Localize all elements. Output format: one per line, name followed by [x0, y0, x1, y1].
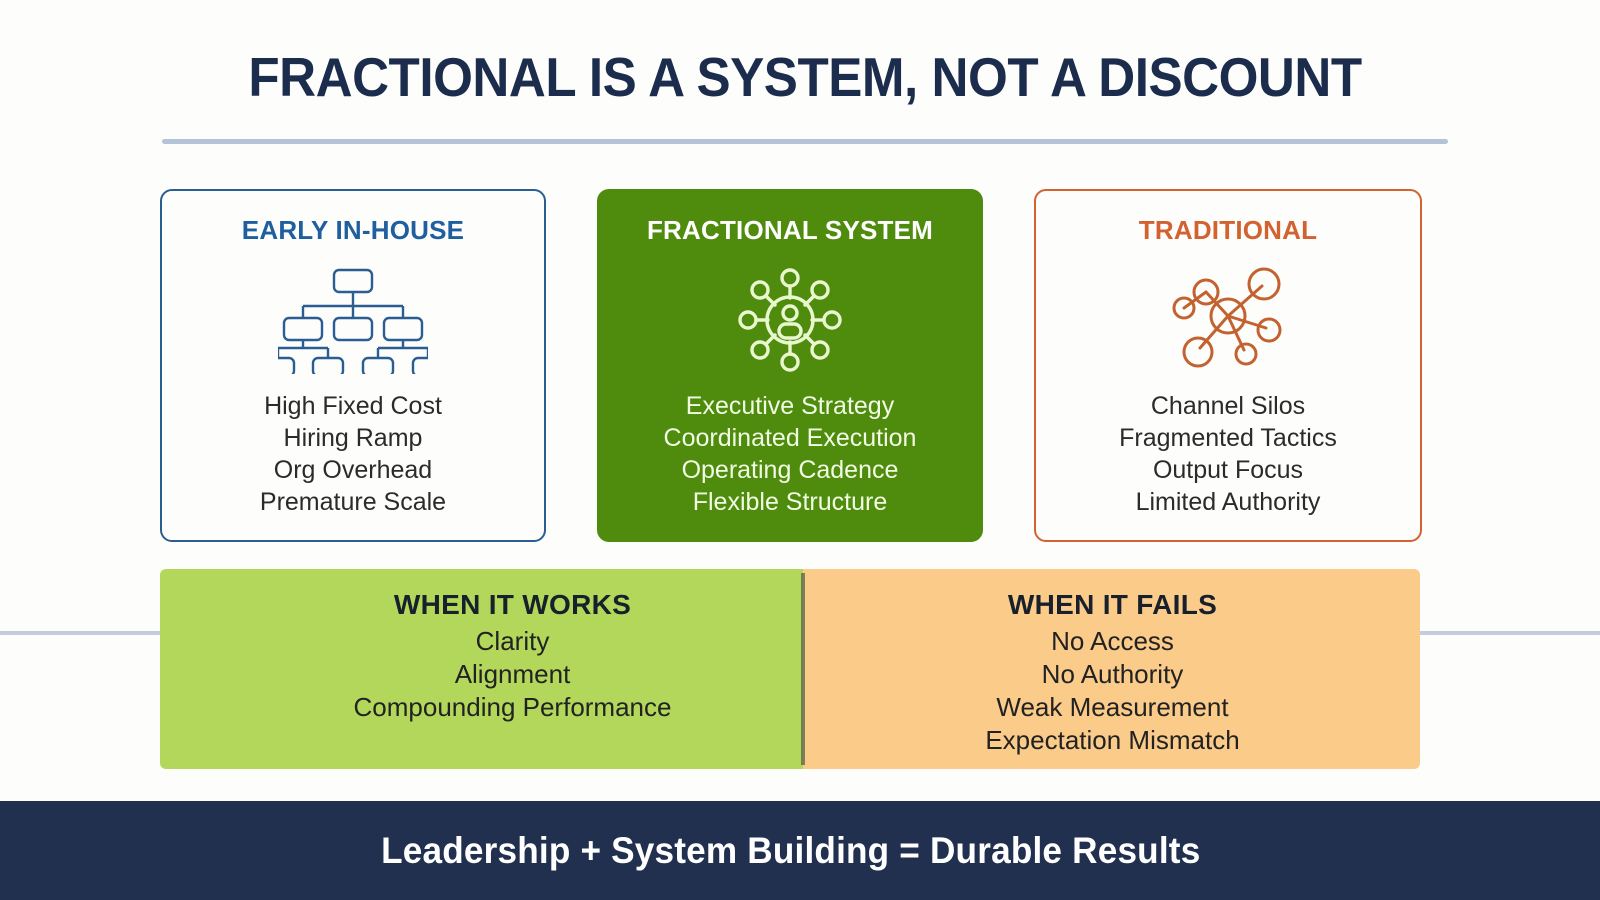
card-list-traditional: Channel Silos Fragmented Tactics Output … — [1119, 390, 1337, 518]
list-item: Coordinated Execution — [664, 422, 917, 454]
list-item: Weak Measurement — [805, 691, 1420, 724]
list-item: Output Focus — [1119, 454, 1337, 486]
card-list-fractional-system: Executive Strategy Coordinated Execution… — [664, 390, 917, 518]
title-underline-rule — [162, 139, 1448, 144]
panel-when-it-works[interactable]: WHEN IT WORKS Clarity Alignment Compound… — [160, 569, 803, 769]
panel-list-when-it-fails: No Access No Authority Weak Measurement … — [805, 625, 1420, 757]
list-item: No Access — [805, 625, 1420, 658]
scattered-molecule-network-icon — [1166, 264, 1290, 376]
list-item: Flexible Structure — [664, 486, 917, 518]
list-item: Operating Cadence — [664, 454, 917, 486]
card-list-early-in-house: High Fixed Cost Hiring Ramp Org Overhead… — [260, 390, 446, 518]
panel-title-when-it-fails: WHEN IT FAILS — [805, 589, 1420, 621]
panel-list-when-it-works: Clarity Alignment Compounding Performanc… — [222, 625, 803, 724]
slide-canvas: FRACTIONAL IS A SYSTEM, NOT A DISCOUNT E… — [0, 0, 1600, 900]
list-item: Premature Scale — [260, 486, 446, 518]
list-item: Executive Strategy — [664, 390, 917, 422]
panel-when-it-fails-content: WHEN IT FAILS No Access No Authority Wea… — [803, 589, 1420, 757]
footer-tagline: Leadership + System Building = Durable R… — [381, 830, 1200, 872]
card-heading-fractional-system: FRACTIONAL SYSTEM — [647, 215, 933, 246]
list-item: Limited Authority — [1119, 486, 1337, 518]
page-title-wrap: FRACTIONAL IS A SYSTEM, NOT A DISCOUNT — [162, 46, 1448, 108]
list-item: Expectation Mismatch — [805, 724, 1420, 757]
list-item: Alignment — [222, 658, 803, 691]
outcome-panels-row: WHEN IT WORKS Clarity Alignment Compound… — [160, 569, 1420, 769]
org-chart-hierarchy-icon — [278, 264, 428, 376]
card-heading-early-in-house: EARLY IN-HOUSE — [242, 215, 464, 246]
list-item: No Authority — [805, 658, 1420, 691]
list-item: Org Overhead — [260, 454, 446, 486]
card-heading-traditional: TRADITIONAL — [1139, 215, 1317, 246]
card-fractional-system[interactable]: FRACTIONAL SYSTEM — [597, 189, 983, 542]
list-item: Compounding Performance — [222, 691, 803, 724]
panel-divider — [801, 573, 805, 765]
comparison-cards-row: EARLY IN-HOUSE — [160, 189, 1422, 542]
footer-bar: Leadership + System Building = Durable R… — [0, 801, 1600, 900]
card-traditional[interactable]: TRADITIONAL — [1034, 189, 1422, 542]
list-item: Channel Silos — [1119, 390, 1337, 422]
list-item: High Fixed Cost — [260, 390, 446, 422]
list-item: Clarity — [222, 625, 803, 658]
hub-and-spoke-person-network-icon — [734, 264, 846, 376]
panel-when-it-fails[interactable]: WHEN IT FAILS No Access No Authority Wea… — [803, 569, 1420, 769]
panel-title-when-it-works: WHEN IT WORKS — [222, 589, 803, 621]
page-title: FRACTIONAL IS A SYSTEM, NOT A DISCOUNT — [207, 46, 1403, 108]
list-item: Hiring Ramp — [260, 422, 446, 454]
card-early-in-house[interactable]: EARLY IN-HOUSE — [160, 189, 546, 542]
panel-when-it-works-content: WHEN IT WORKS Clarity Alignment Compound… — [160, 589, 803, 724]
list-item: Fragmented Tactics — [1119, 422, 1337, 454]
